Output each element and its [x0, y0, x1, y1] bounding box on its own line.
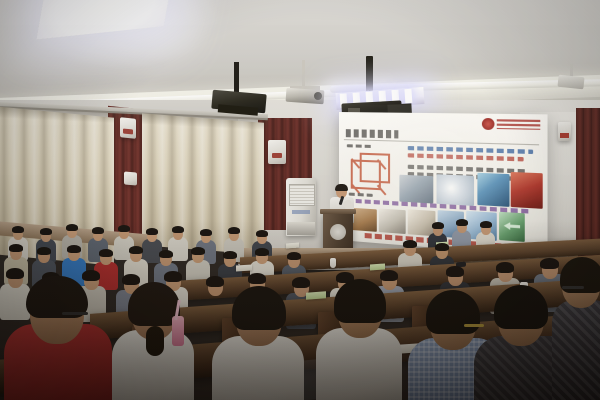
- ac-grill: [289, 184, 315, 206]
- wall-alarm-right: [558, 122, 571, 141]
- slide-title-text: [346, 129, 399, 138]
- drink-cup: [330, 258, 336, 268]
- paper-notes: [236, 264, 252, 271]
- presenter-hair: [335, 184, 348, 191]
- slide-title-rule: [344, 139, 539, 145]
- university-name-text: [497, 119, 541, 130]
- university-seal-icon: [482, 118, 495, 130]
- ac-base: [287, 222, 315, 235]
- university-seal-icon: [330, 224, 346, 240]
- slide-image-tile: [437, 174, 474, 206]
- slide-image-tile: [477, 173, 509, 207]
- eyeglasses: [464, 324, 484, 327]
- cube-framework-diagram: [351, 152, 391, 192]
- slide-image-tile: [399, 175, 433, 204]
- paper-notes: [286, 243, 299, 249]
- slide-body-line: [408, 146, 533, 154]
- green-notepad: [306, 291, 326, 299]
- ac-logo: [292, 210, 310, 214]
- wall-speaker-middle: [268, 140, 286, 164]
- light-switch-plate[interactable]: [124, 171, 137, 185]
- slide-image-tile: [408, 209, 436, 236]
- green-notepad: [370, 263, 385, 270]
- eyeglasses: [62, 312, 88, 315]
- air-conditioner-unit: [286, 178, 316, 236]
- slide-body-line: [408, 153, 524, 161]
- university-logo: [482, 117, 540, 132]
- wall-speaker-left: [120, 117, 136, 139]
- conference-room-photo: [0, 0, 600, 400]
- ponytail: [146, 326, 164, 356]
- diagram-label: [349, 193, 373, 197]
- diagram-label: [347, 144, 373, 148]
- slide-image-tile-exit-sign: [499, 212, 525, 242]
- drink-cup: [172, 316, 184, 346]
- slide-image-tile: [379, 209, 406, 235]
- lectern: [323, 213, 353, 251]
- lectern-top: [320, 209, 356, 214]
- eyeglasses: [562, 286, 584, 289]
- slide-image-tile: [511, 172, 543, 209]
